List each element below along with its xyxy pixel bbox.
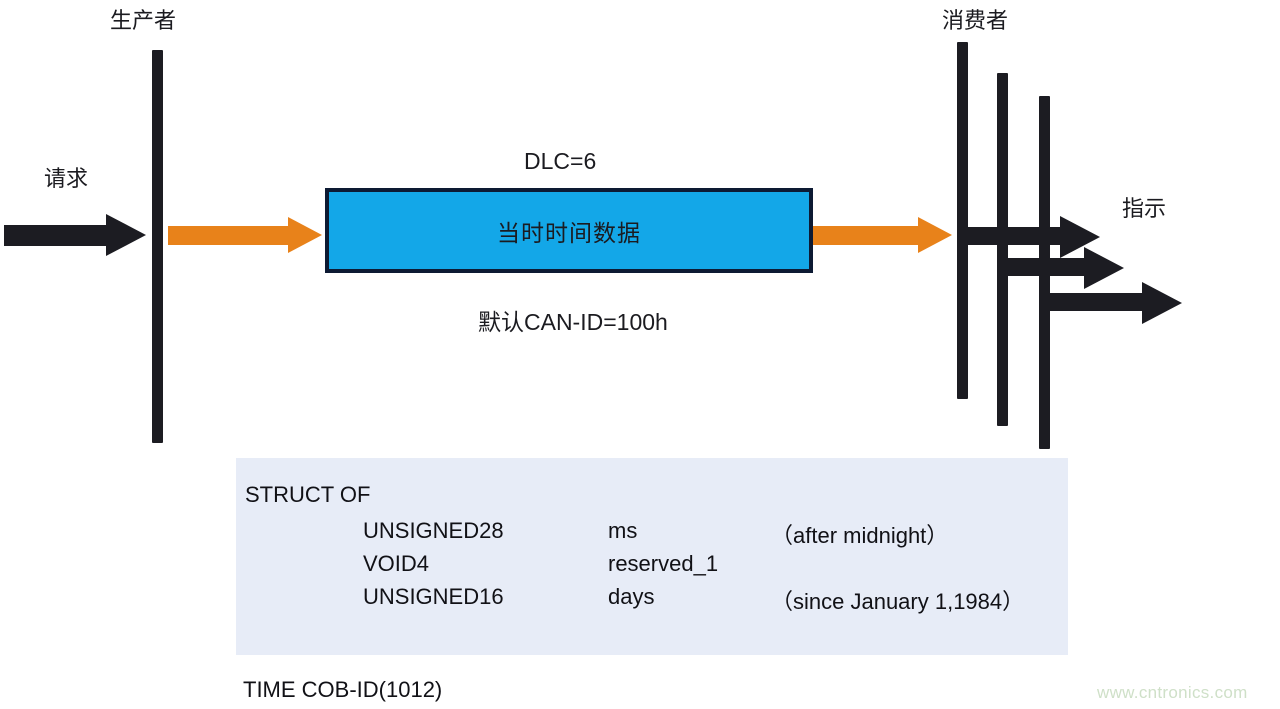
struct-field-type: UNSIGNED16 (363, 584, 504, 610)
transfer-arrow-left-head (288, 217, 322, 253)
struct-field-type: UNSIGNED28 (363, 518, 504, 544)
indication-arrow-2-shaft (998, 258, 1086, 276)
time-cob-id-label: TIME COB-ID(1012) (243, 677, 442, 703)
struct-field-name: reserved_1 (608, 551, 718, 577)
indication-arrow-3-shaft (1040, 293, 1144, 311)
indication-arrow-2-head (1084, 247, 1124, 289)
data-frame-box: 当时时间数据 (325, 188, 813, 273)
dlc-label: DLC=6 (524, 148, 596, 175)
site-watermark: www.cntronics.com (1097, 683, 1248, 703)
data-frame-payload-label: 当时时间数据 (497, 214, 641, 248)
transfer-arrow-right-head (918, 217, 952, 253)
indication-label: 指示 (1122, 198, 1166, 220)
request-arrow-head (106, 214, 146, 256)
struct-field-name: days (608, 584, 654, 610)
consumer-label: 消费者 (942, 10, 1008, 32)
struct-field-note: （after midnight） (771, 518, 948, 550)
consumer-lifeline-bar-2 (997, 73, 1008, 426)
struct-header: STRUCT OF (245, 482, 370, 508)
diagram-canvas: { "diagram": { "producer": { "label": "生… (0, 0, 1280, 709)
producer-lifeline-bar (152, 50, 163, 443)
indication-arrow-3-head (1142, 282, 1182, 324)
transfer-arrow-right-shaft (813, 226, 920, 245)
struct-field-type: VOID4 (363, 551, 429, 577)
can-id-label: 默认CAN-ID=100h (478, 303, 668, 337)
indication-arrow-1-shaft (958, 227, 1062, 245)
struct-field-name: ms (608, 518, 637, 544)
transfer-arrow-left-shaft (168, 226, 290, 245)
consumer-lifeline-bar-1 (957, 42, 968, 399)
request-label: 请求 (44, 168, 88, 190)
producer-label: 生产者 (110, 10, 176, 32)
struct-field-note: （since January 1,1984） (771, 584, 1024, 616)
request-arrow-shaft (4, 225, 108, 246)
